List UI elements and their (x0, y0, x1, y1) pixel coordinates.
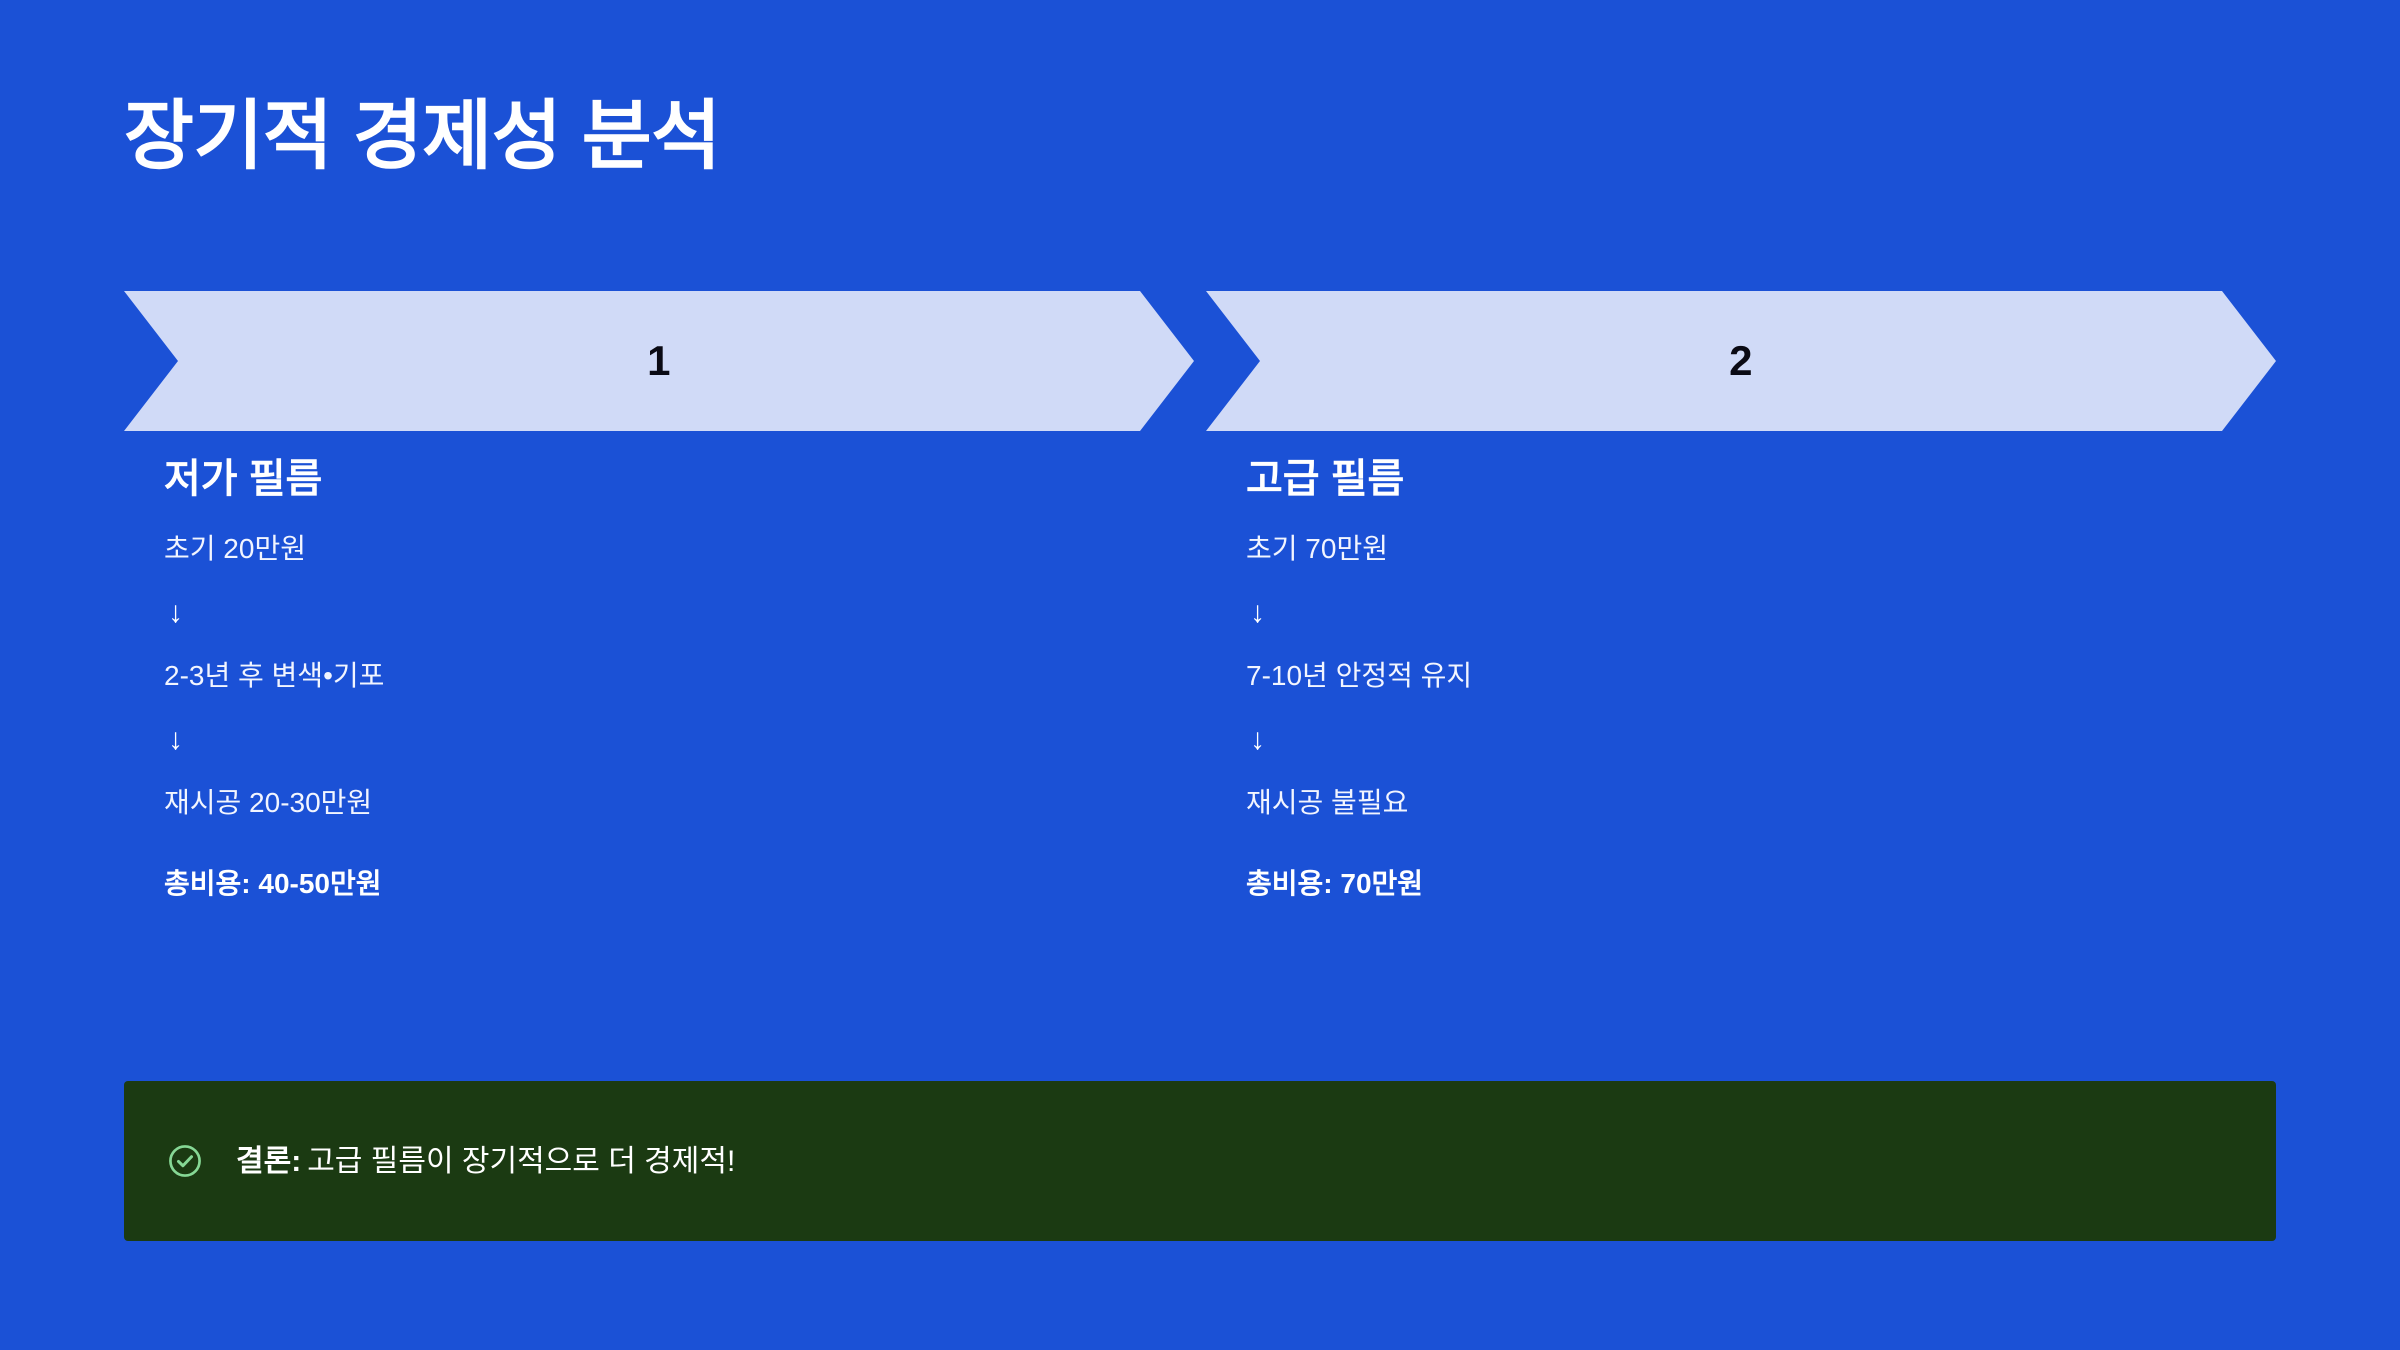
column-1-line-3: 재시공 20-30만원 (164, 785, 1154, 820)
chevron-step-1-number: 1 (647, 340, 671, 382)
slide-root: 장기적 경제성 분석 1 2 저가 필름 초기 20만원 ↓ 2-3년 후 변색… (0, 0, 2400, 1350)
comparison-columns: 저가 필름 초기 20만원 ↓ 2-3년 후 변색•기포 ↓ 재시공 20-30… (124, 455, 2276, 1015)
column-2-total-cost: 총비용: 70만원 (1246, 866, 2236, 901)
conclusion-lead: 결론: (236, 1145, 301, 1178)
chevron-step-row: 1 2 (124, 291, 2276, 431)
arrow-down-icon: ↓ (168, 598, 1154, 628)
conclusion-body: 고급 필름이 장기적으로 더 경제적! (307, 1145, 735, 1178)
conclusion-text: 결론:고급 필름이 장기적으로 더 경제적! (236, 1142, 735, 1181)
arrow-down-icon: ↓ (168, 725, 1154, 755)
column-1-line-2: 2-3년 후 변색•기포 (164, 658, 1154, 693)
column-1-total-cost: 총비용: 40-50만원 (164, 866, 1154, 901)
column-1-line-1: 초기 20만원 (164, 531, 1154, 566)
chevron-step-2-number: 2 (1729, 340, 1753, 382)
column-premium-film: 고급 필름 초기 70만원 ↓ 7-10년 안정적 유지 ↓ 재시공 불필요 총… (1206, 455, 2276, 1015)
column-2-line-3: 재시공 불필요 (1246, 785, 2236, 820)
arrow-down-icon: ↓ (1250, 598, 2236, 628)
column-2-heading: 고급 필름 (1246, 455, 2236, 503)
conclusion-banner: 결론:고급 필름이 장기적으로 더 경제적! (124, 1081, 2276, 1241)
column-1-heading: 저가 필름 (164, 455, 1154, 503)
chevron-step-1[interactable]: 1 (124, 291, 1194, 431)
chevron-step-2[interactable]: 2 (1206, 291, 2276, 431)
column-2-line-2: 7-10년 안정적 유지 (1246, 658, 2236, 693)
arrow-down-icon: ↓ (1250, 725, 2236, 755)
column-low-cost-film: 저가 필름 초기 20만원 ↓ 2-3년 후 변색•기포 ↓ 재시공 20-30… (124, 455, 1194, 1015)
check-circle-icon (166, 1142, 204, 1180)
page-title: 장기적 경제성 분석 (124, 96, 721, 178)
column-2-line-1: 초기 70만원 (1246, 531, 2236, 566)
